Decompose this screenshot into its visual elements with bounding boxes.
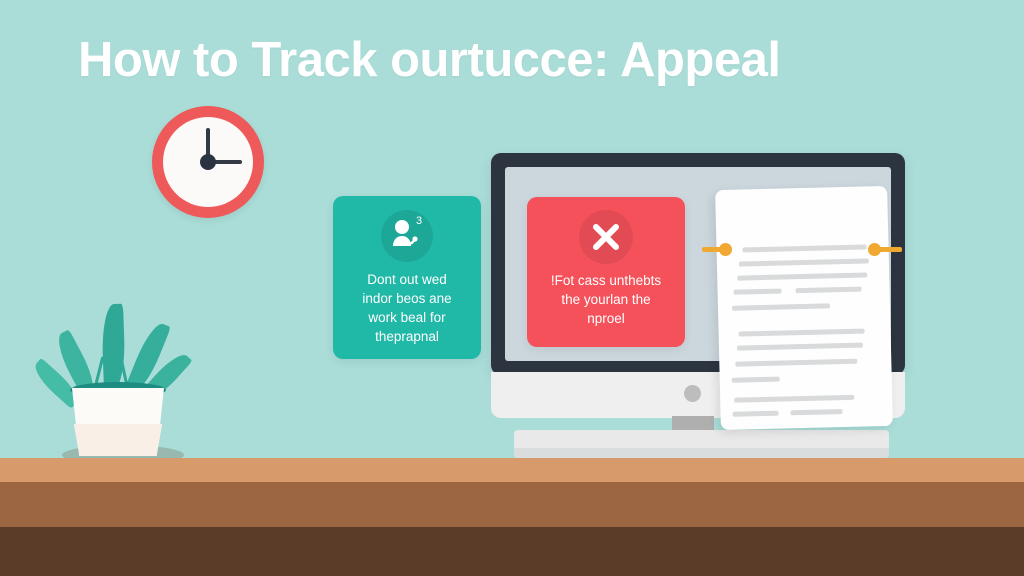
document-text-line	[737, 343, 863, 351]
person-badge-icon: 3	[381, 210, 433, 262]
info-card-line: theprapnal	[341, 327, 473, 346]
document-text-line	[735, 359, 857, 367]
info-card-line: Dont out wed	[341, 270, 473, 289]
info-card-text: Dont out wed indor beos ane work beal fo…	[341, 270, 473, 346]
document-text-line	[796, 287, 862, 294]
document-text-line	[734, 395, 854, 403]
pin-head-icon	[719, 243, 732, 256]
document-pin-left[interactable]	[702, 243, 732, 256]
paper-document[interactable]	[715, 186, 893, 430]
wall-clock	[152, 106, 264, 218]
error-card-line: !Fot cass unthebts	[535, 271, 677, 290]
error-card[interactable]: !Fot cass unthebts the yourlan the nproe…	[527, 197, 685, 347]
monitor-base-shadow	[514, 448, 889, 458]
power-button-icon[interactable]	[684, 385, 701, 402]
close-x-icon	[579, 210, 633, 264]
document-text-line	[739, 258, 869, 266]
document-pin-right[interactable]	[868, 243, 902, 256]
info-card-line: work beal for	[341, 308, 473, 327]
svg-text:3: 3	[416, 215, 422, 227]
document-text-line	[733, 411, 779, 417]
document-text-line	[734, 289, 782, 295]
error-card-text: !Fot cass unthebts the yourlan the nproe…	[535, 271, 677, 328]
document-text-line	[743, 244, 867, 252]
document-text-line	[732, 377, 780, 383]
plant-pot-lower	[72, 424, 164, 456]
desk-edge	[0, 482, 1024, 527]
error-card-line: nproel	[535, 309, 677, 328]
document-text-line	[737, 272, 867, 280]
document-text-line	[732, 303, 830, 310]
error-card-line: the yourlan the	[535, 290, 677, 309]
info-card-line: indor beos ane	[341, 289, 473, 308]
pin-bar	[877, 247, 902, 252]
desk-surface	[0, 458, 1024, 482]
info-card[interactable]: 3 Dont out wed indor beos ane work beal …	[333, 196, 481, 359]
document-text-line	[739, 329, 865, 337]
page-title: How to Track ourtucce: Appeal	[78, 34, 958, 88]
document-text-line	[790, 409, 842, 415]
illustration-scene: How to Track ourtucce: Appeal	[0, 0, 1024, 576]
clock-center-hub	[200, 154, 216, 170]
desk-front-panel	[0, 527, 1024, 576]
